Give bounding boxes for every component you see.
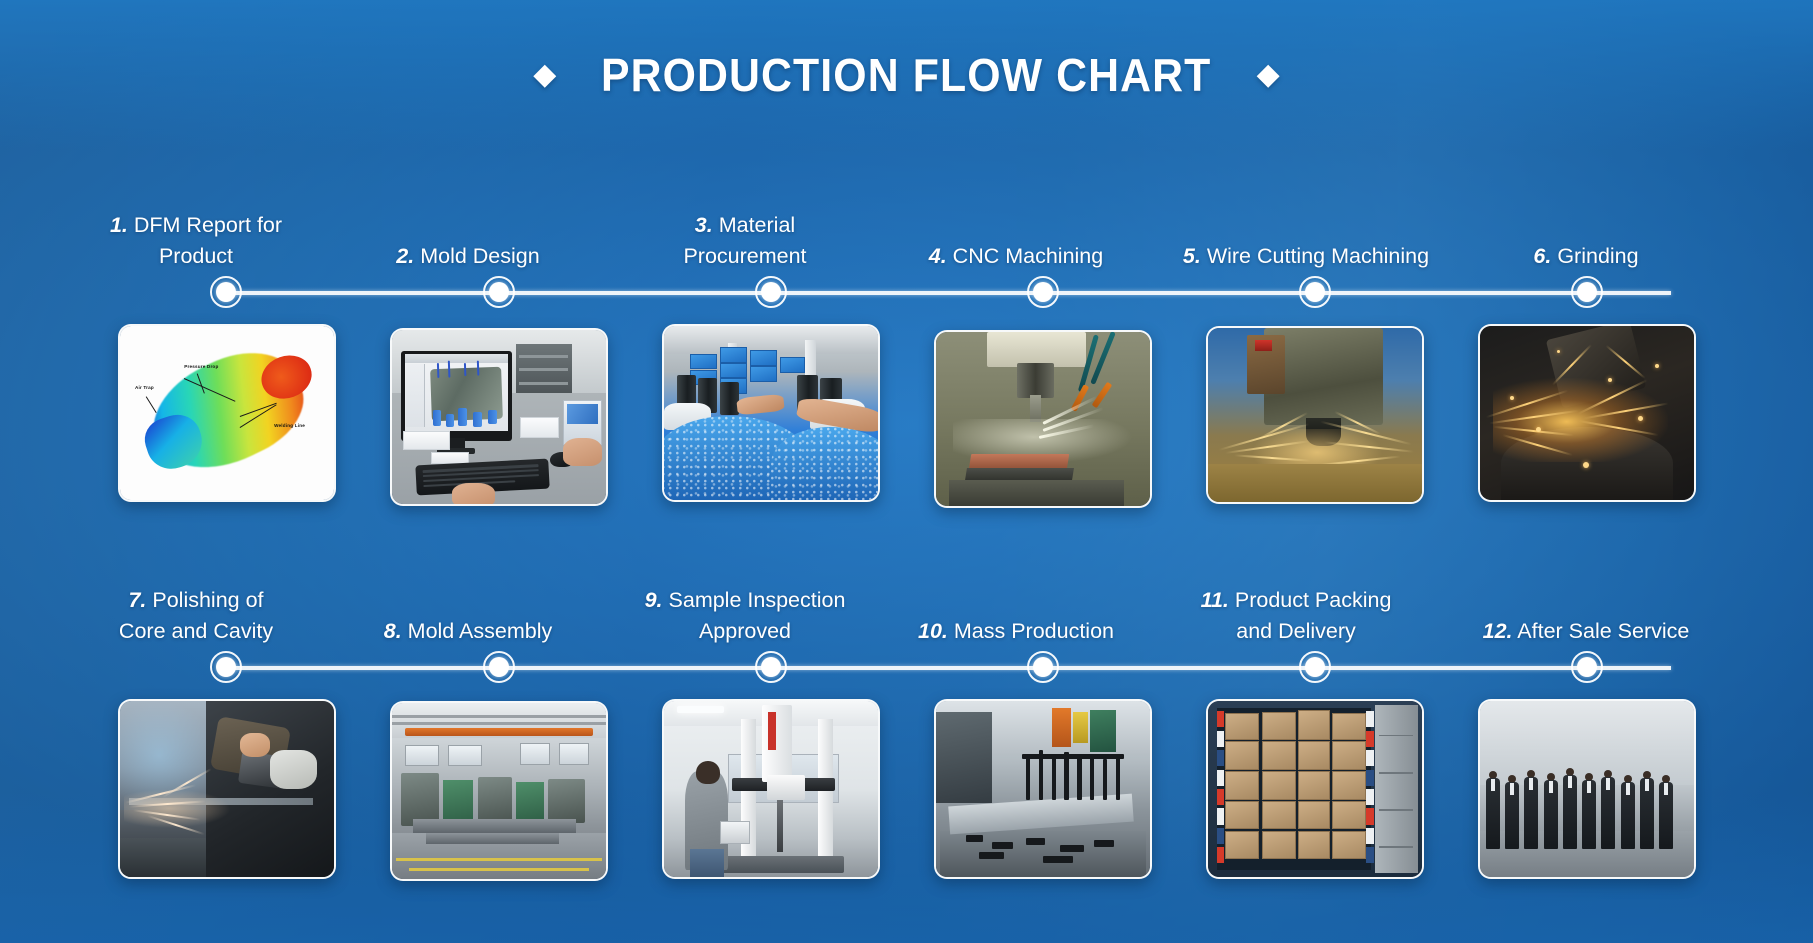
row1-cards: Pressure Drop Air Trap Welding Line: [0, 320, 1813, 502]
cad-mold-design-monitor: [392, 330, 606, 504]
diamond-left-icon: ◆: [533, 60, 556, 90]
timeline-node-4[interactable]: [1027, 276, 1059, 308]
angle-grinder-worker: [120, 701, 334, 877]
step-label-4: 4. CNC Machining: [908, 210, 1124, 272]
step-label-8: 8. Mold Assembly: [360, 585, 576, 647]
step-label-3: 3. Material Procurement: [632, 179, 858, 272]
step-label-11: 11. Product Packing and Delivery: [1176, 554, 1416, 647]
row2-cards: [0, 695, 1813, 877]
page-title: ◆ PRODUCTION FLOW CHART ◆: [0, 48, 1813, 102]
production-line-conveyor: [936, 701, 1150, 877]
step-label-6: 6. Grinding: [1478, 210, 1694, 272]
step-image-12[interactable]: [1478, 699, 1696, 879]
timeline-node-12[interactable]: [1571, 651, 1603, 683]
step-label-12: 12. After Sale Service: [1466, 585, 1706, 647]
step-image-11[interactable]: [1206, 699, 1424, 879]
step-label-2: 2. Mold Design: [360, 210, 576, 272]
step-image-5[interactable]: [1206, 326, 1424, 504]
step-image-7[interactable]: [118, 699, 336, 879]
step-label-10: 10. Mass Production: [908, 585, 1124, 647]
timeline-node-2[interactable]: [483, 276, 515, 308]
step-image-9[interactable]: [662, 699, 880, 879]
cmm-inspection-room: [664, 701, 878, 877]
step-image-8[interactable]: [390, 701, 608, 881]
timeline-line: [226, 666, 1671, 670]
moldflow-analysis-render: Pressure Drop Air Trap Welding Line: [120, 326, 334, 500]
page-title-text: PRODUCTION FLOW CHART: [601, 48, 1211, 102]
timeline-line: [226, 291, 1671, 295]
flow-row-2: 7. Polishing of Core and Cavity 8. Mold …: [0, 575, 1813, 877]
timeline-node-10[interactable]: [1027, 651, 1059, 683]
timeline-node-8[interactable]: [483, 651, 515, 683]
timeline-node-11[interactable]: [1299, 651, 1331, 683]
step-image-4[interactable]: [934, 330, 1152, 508]
wire-cutting-sparks: [1208, 328, 1422, 502]
timeline-node-5[interactable]: [1299, 276, 1331, 308]
step-image-6[interactable]: [1478, 324, 1696, 502]
diamond-right-icon: ◆: [1257, 60, 1280, 90]
step-image-2[interactable]: [390, 328, 608, 506]
row1-timeline: [0, 272, 1813, 312]
step-image-1[interactable]: Pressure Drop Air Trap Welding Line: [118, 324, 336, 502]
row2-timeline: [0, 647, 1813, 687]
row2-labels: 7. Polishing of Core and Cavity 8. Mold …: [0, 575, 1813, 647]
step-image-3[interactable]: [662, 324, 880, 502]
timeline-node-7[interactable]: [210, 651, 242, 683]
blue-plastic-granulate: [664, 326, 878, 500]
step-image-10[interactable]: [934, 699, 1152, 879]
step-label-9: 9. Sample Inspection Approved: [632, 554, 858, 647]
timeline-node-6[interactable]: [1571, 276, 1603, 308]
company-team-photo: [1480, 701, 1694, 877]
timeline-node-9[interactable]: [755, 651, 787, 683]
step-label-1: 1. DFM Report for Product: [88, 179, 304, 272]
row1-labels: 1. DFM Report for Product 2. Mold Design…: [0, 200, 1813, 272]
cnc-milling-coolant: [936, 332, 1150, 506]
grinding-spark-burst: [1480, 326, 1694, 500]
flow-row-1: 1. DFM Report for Product 2. Mold Design…: [0, 200, 1813, 502]
step-label-5: 5. Wire Cutting Machining: [1176, 210, 1436, 272]
timeline-node-1[interactable]: [210, 276, 242, 308]
timeline-node-3[interactable]: [755, 276, 787, 308]
mold-assembly-workshop: [392, 703, 606, 879]
step-label-7: 7. Polishing of Core and Cavity: [88, 554, 304, 647]
packed-shipping-container: [1208, 701, 1422, 877]
